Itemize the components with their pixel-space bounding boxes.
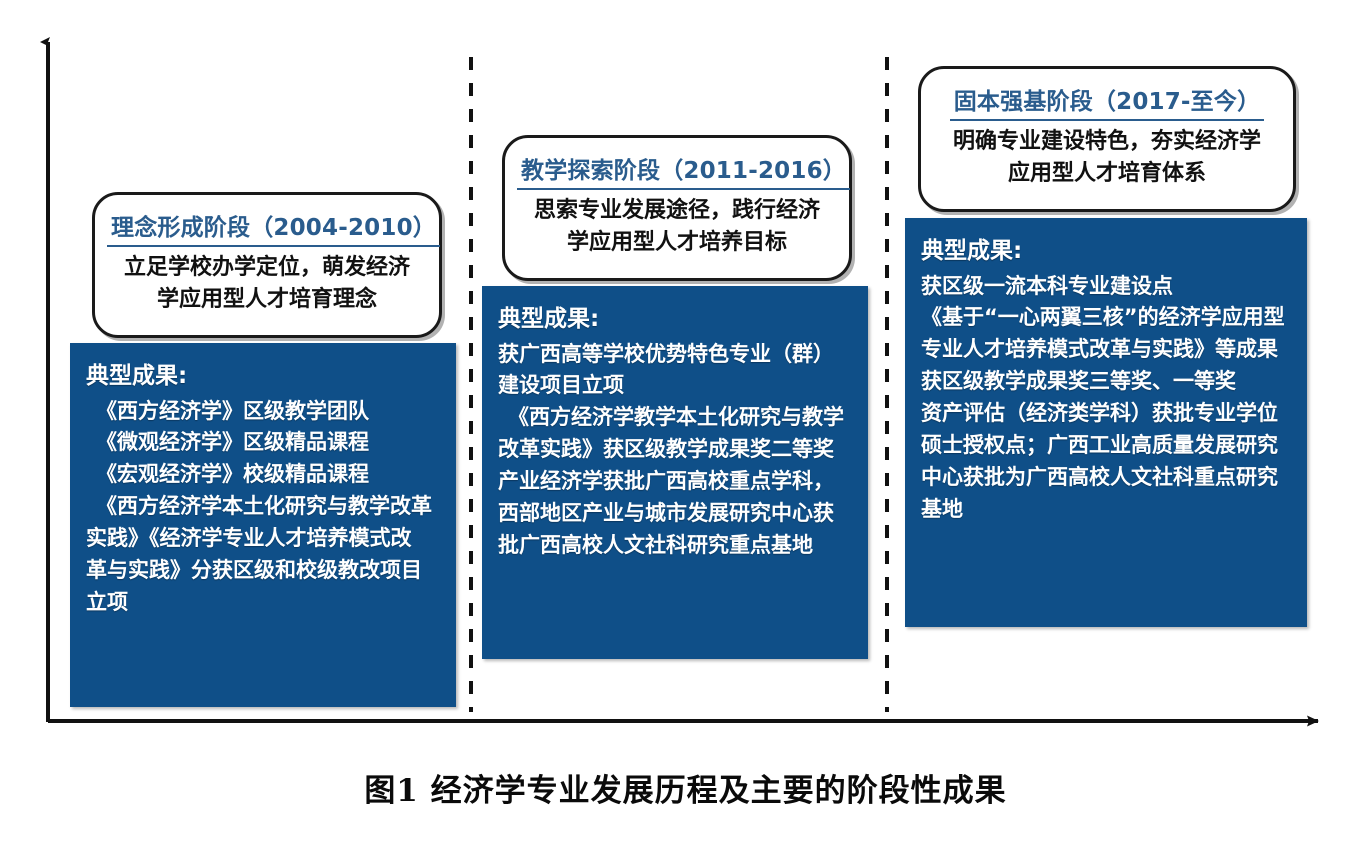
phase-2-results-box[interactable]: 典型成果: 获广西高等学校优势特色专业（群） 建设项目立项 《西方经济学教学本土… — [482, 286, 868, 659]
phase-3-title: 固本强基阶段（2017-至今） — [950, 87, 1265, 121]
phase-2-result-item: 批广西高校人文社科研究重点基地 — [498, 530, 854, 562]
phase-1-header-card[interactable]: 理念形成阶段（2004-2010） 立足学校办学定位，萌发经济 学应用型人才培育… — [92, 192, 442, 338]
phase-2-result-item: 西部地区产业与城市发展研究中心获 — [498, 498, 854, 530]
phase-1-result-item: 实践》《经济学专业人才培养模式改 — [86, 523, 442, 555]
phase-2-desc-line-2: 学应用型人才培养目标 — [517, 227, 837, 258]
phase-2-result-item: 改革实践》获区级教学成果奖二等奖 — [498, 434, 854, 466]
phase-2-header-card[interactable]: 教学探索阶段（2011-2016） 思索专业发展途径，践行经济 学应用型人才培养… — [502, 135, 852, 281]
phase-1-description: 立足学校办学定位，萌发经济 学应用型人才培育理念 — [107, 252, 427, 314]
phase-1-result-item: 《微观经济学》区级精品课程 — [86, 427, 442, 459]
figure-caption: 图1 经济学专业发展历程及主要的阶段性成果 — [0, 765, 1371, 810]
phase-1-result-item: 立项 — [86, 587, 442, 619]
phase-3-desc-line-2: 应用型人才培育体系 — [933, 158, 1281, 189]
phase-1-result-item: 《西方经济学本土化研究与教学改革 — [86, 491, 442, 523]
phase-2-results-list: 获广西高等学校优势特色专业（群） 建设项目立项 《西方经济学教学本土化研究与教学… — [498, 339, 854, 562]
phase-1-result-item: 《西方经济学》区级教学团队 — [86, 396, 442, 428]
phase-3-result-item: 《基于“一心两翼三核”的经济学应用型 — [921, 302, 1293, 334]
phase-3-description: 明确专业建设特色，夯实经济学 应用型人才培育体系 — [933, 126, 1281, 188]
phase-1-desc-line-2: 学应用型人才培育理念 — [107, 284, 427, 315]
phase-1-title: 理念形成阶段（2004-2010） — [107, 213, 440, 247]
phase-3-result-item: 获区级教学成果奖三等奖、一等奖 — [921, 366, 1293, 398]
phase-2-results-heading: 典型成果: — [498, 302, 854, 337]
phase-3-header-card[interactable]: 固本强基阶段（2017-至今） 明确专业建设特色，夯实经济学 应用型人才培育体系 — [918, 66, 1296, 212]
phase-1-desc-line-1: 立足学校办学定位，萌发经济 — [107, 252, 427, 283]
phase-3-result-item: 资产评估（经济类学科）获批专业学位 — [921, 398, 1293, 430]
timeline-figure: 理念形成阶段（2004-2010） 立足学校办学定位，萌发经济 学应用型人才培育… — [0, 0, 1371, 845]
phase-1-results-list: 《西方经济学》区级教学团队 《微观经济学》区级精品课程 《宏观经济学》校级精品课… — [86, 396, 442, 619]
phase-3-result-item: 硕士授权点；广西工业高质量发展研究 — [921, 430, 1293, 462]
phase-1-result-item: 《宏观经济学》校级精品课程 — [86, 459, 442, 491]
phase-3-result-item: 获区级一流本科专业建设点 — [921, 271, 1293, 303]
phase-1-result-item: 革与实践》分获区级和校级教改项目 — [86, 555, 442, 587]
phase-2-title: 教学探索阶段（2011-2016） — [517, 156, 850, 190]
phase-3-results-list: 获区级一流本科专业建设点 《基于“一心两翼三核”的经济学应用型 专业人才培养模式… — [921, 271, 1293, 526]
phase-2-description: 思索专业发展途径，践行经济 学应用型人才培养目标 — [517, 195, 837, 257]
phase-2-result-item: 《西方经济学教学本土化研究与教学 — [498, 402, 854, 434]
phase-2-result-item: 获广西高等学校优势特色专业（群） — [498, 339, 854, 371]
phase-3-result-item: 基地 — [921, 494, 1293, 526]
phase-2-result-item: 建设项目立项 — [498, 370, 854, 402]
phase-3-result-item: 中心获批为广西高校人文社科重点研究 — [921, 462, 1293, 494]
phase-1-results-box[interactable]: 典型成果: 《西方经济学》区级教学团队 《微观经济学》区级精品课程 《宏观经济学… — [70, 343, 456, 707]
phase-3-result-item: 专业人才培养模式改革与实践》等成果 — [921, 334, 1293, 366]
phase-3-results-heading: 典型成果: — [921, 234, 1293, 269]
phase-3-desc-line-1: 明确专业建设特色，夯实经济学 — [933, 126, 1281, 157]
phase-3-results-box[interactable]: 典型成果: 获区级一流本科专业建设点 《基于“一心两翼三核”的经济学应用型 专业… — [905, 218, 1307, 627]
phase-1-results-heading: 典型成果: — [86, 359, 442, 394]
phase-2-desc-line-1: 思索专业发展途径，践行经济 — [517, 195, 837, 226]
phase-2-result-item: 产业经济学获批广西高校重点学科， — [498, 466, 854, 498]
